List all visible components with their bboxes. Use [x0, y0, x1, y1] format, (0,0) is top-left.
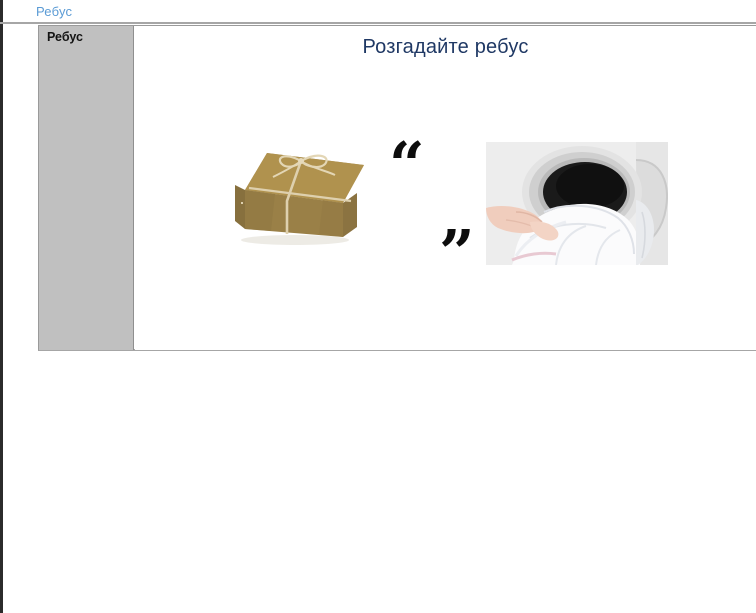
slide-page: Ребус Ребус Розгадайте ребус — [0, 0, 756, 613]
washing-machine-illustration — [486, 142, 668, 265]
slide-side-pane[interactable]: Ребус — [39, 26, 134, 350]
page-left-edge — [0, 0, 3, 613]
washing-machine-image — [486, 142, 668, 265]
breadcrumb-link-rebus[interactable]: Ребус — [36, 3, 72, 20]
slide-content-pane: Розгадайте ребус — [135, 26, 756, 350]
parcel-image — [231, 141, 379, 256]
slide-title: Розгадайте ребус — [135, 34, 756, 60]
quote-close-icon: ” — [439, 222, 487, 270]
header-divider — [0, 22, 756, 24]
side-pane-label: Ребус — [47, 30, 83, 44]
slide-frame: Ребус Розгадайте ребус — [38, 25, 756, 351]
parcel-illustration — [231, 141, 379, 256]
quote-open-icon: “ — [389, 134, 433, 180]
